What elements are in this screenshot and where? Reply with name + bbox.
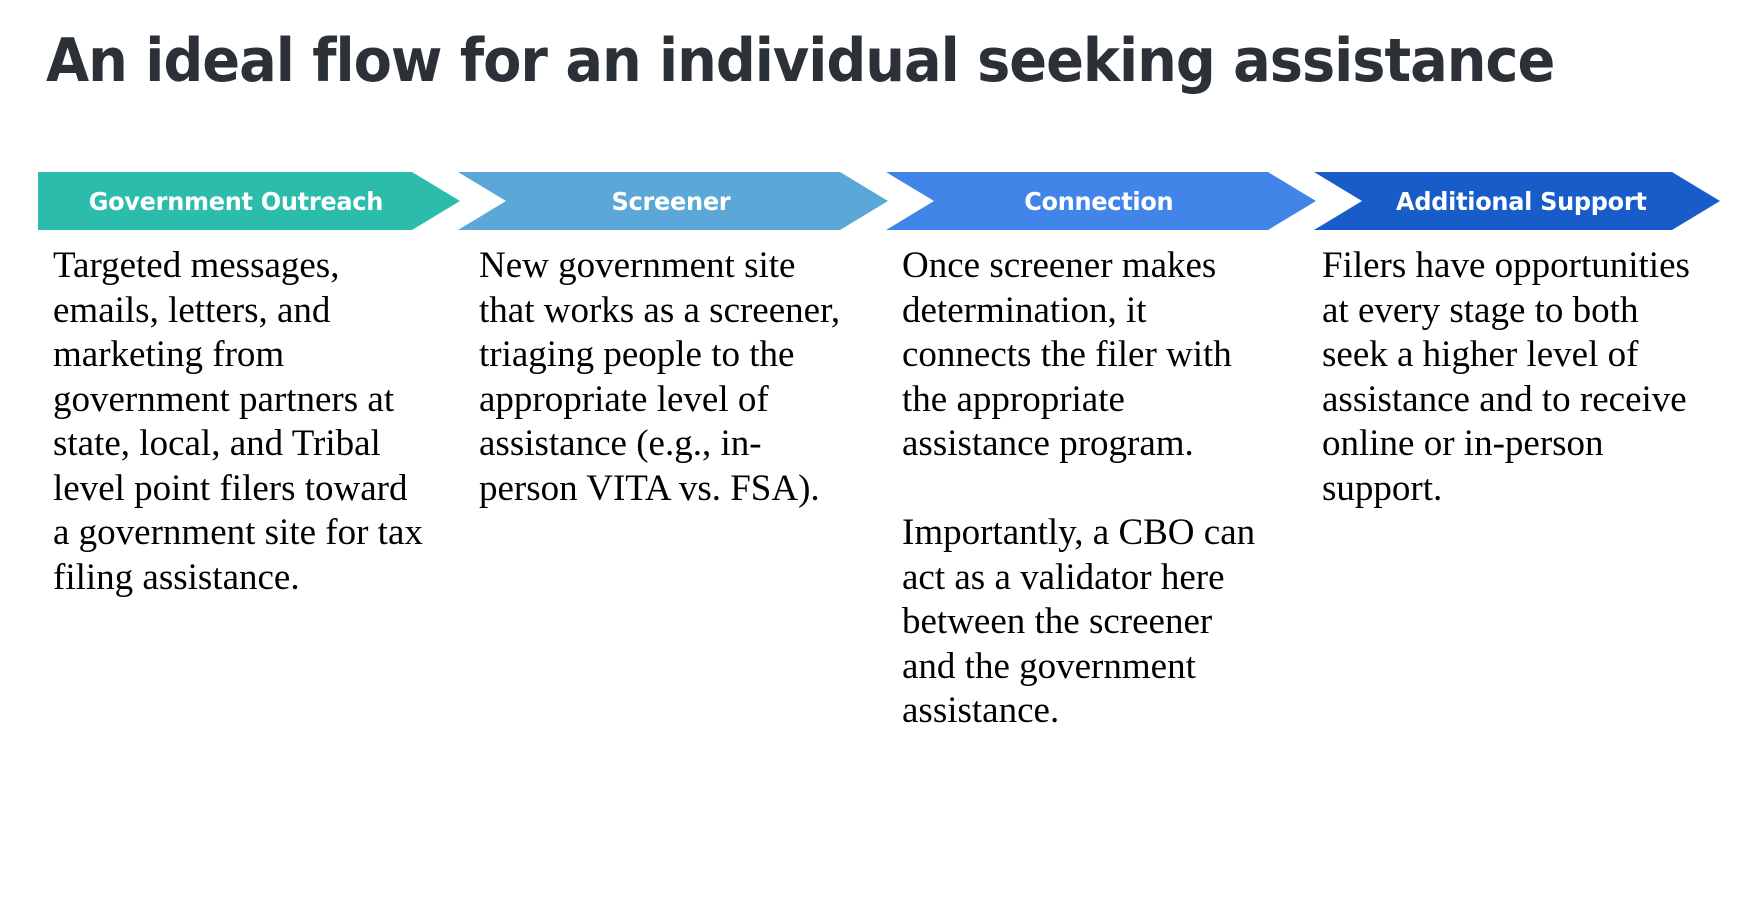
description-paragraph: Once screener makes determination, it co… (902, 244, 1272, 467)
stage-description-connection: Once screener makes determination, it co… (902, 244, 1272, 734)
flow-stage-connection[interactable]: Connection (886, 172, 1316, 230)
stage-description-screener: New government site that works as a scre… (479, 244, 854, 511)
process-flow-chevron-band: Government Outreach Screener Connection … (0, 172, 1762, 230)
description-paragraph: Importantly, a CBO can act as a validato… (902, 511, 1272, 734)
description-paragraph: Filers have opportunities at every stage… (1322, 244, 1702, 511)
flow-stage-additional-support[interactable]: Additional Support (1314, 172, 1720, 230)
page-title: An ideal flow for an individual seeking … (46, 22, 1608, 100)
flow-stage-label: Connection (1005, 187, 1196, 216)
flow-stage-label: Government Outreach (88, 187, 409, 216)
flow-stage-label: Additional Support (1371, 187, 1664, 216)
flow-stage-screener[interactable]: Screener (458, 172, 888, 230)
stage-descriptions: Targeted messages, emails, letters, and … (0, 244, 1762, 904)
stage-description-government-outreach: Targeted messages, emails, letters, and … (53, 244, 433, 600)
description-paragraph: Targeted messages, emails, letters, and … (53, 244, 433, 600)
flow-stage-label: Screener (592, 187, 753, 216)
flow-stage-government-outreach[interactable]: Government Outreach (38, 172, 460, 230)
description-paragraph: New government site that works as a scre… (479, 244, 854, 511)
slide-canvas: An ideal flow for an individual seeking … (0, 0, 1762, 908)
stage-description-additional-support: Filers have opportunities at every stage… (1322, 244, 1702, 511)
